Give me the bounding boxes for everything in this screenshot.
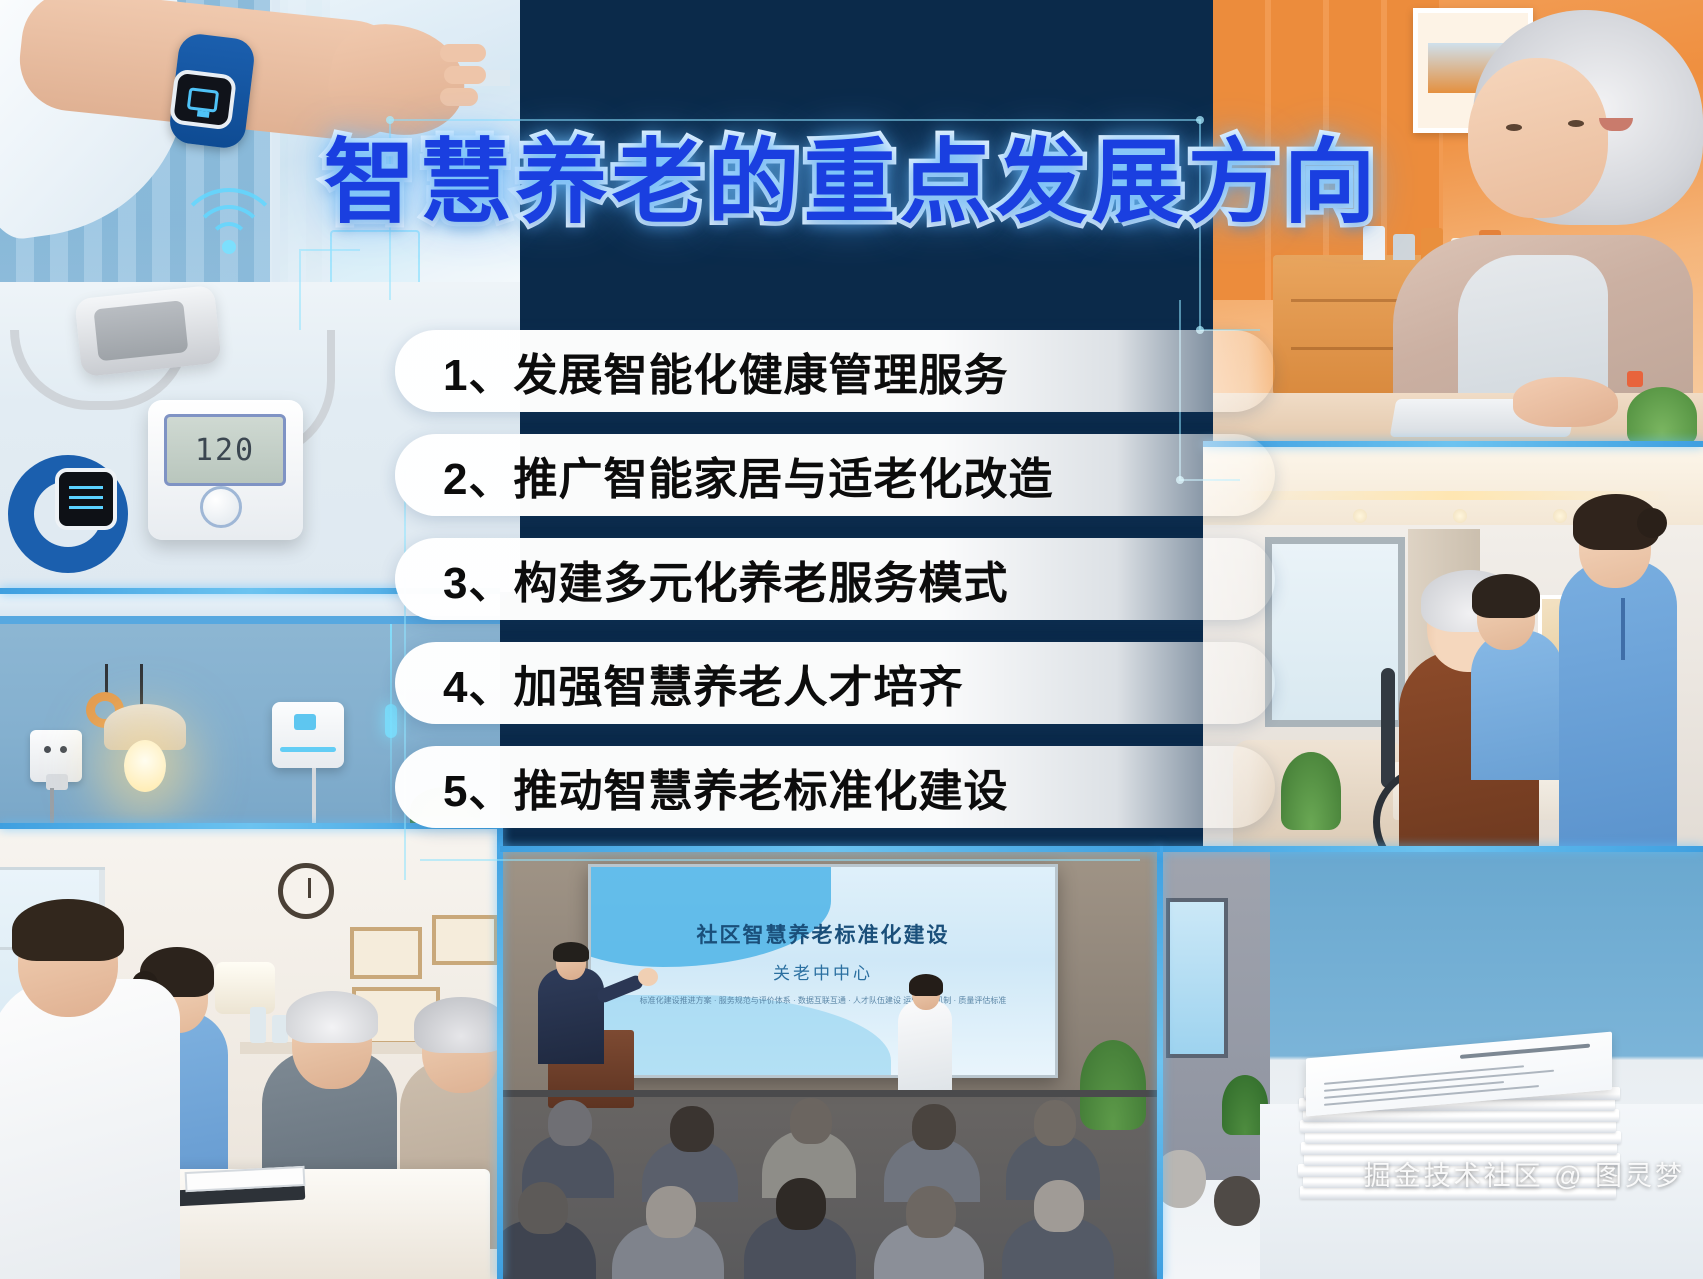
potted-plant (1080, 1040, 1146, 1130)
panel-status-bar (280, 747, 336, 752)
key-directions-list: 1、发展智能化健康管理服务 2、推广智能家居与适老化改造 3、构建多元化养老服务… (395, 330, 1275, 828)
monitor-reading: 120 (195, 433, 255, 468)
elderly-man-hair (286, 991, 378, 1043)
potted-plant (1627, 387, 1697, 445)
panel-cord (312, 768, 316, 824)
nurse-female-body (1559, 560, 1677, 850)
power-cord (50, 788, 54, 827)
background-display (1166, 898, 1228, 1058)
elderly-woman-hair (414, 997, 500, 1053)
panel-seam (1157, 846, 1163, 1279)
table-lamp (215, 962, 275, 1014)
photo-panel-consultation (0, 827, 500, 1279)
list-item-label: 4、加强智慧养老人才培齐 (443, 651, 963, 715)
smart-watch-screen (55, 468, 117, 530)
finger (440, 88, 478, 106)
list-item: 1、发展智能化健康管理服务 (395, 330, 1275, 412)
window-mullion (0, 867, 105, 870)
speaker-body (538, 968, 604, 1064)
blood-pressure-cuff (74, 285, 221, 377)
panel-seam (500, 846, 1160, 852)
monitor-display: 120 (164, 414, 286, 486)
photo-panel-nursing-care (1203, 445, 1703, 850)
audience-head (1160, 1150, 1206, 1208)
list-item: 4、加强智慧养老人才培齐 (395, 642, 1275, 724)
wheelchair-frame (1381, 668, 1395, 788)
nurse-male-hair (1472, 574, 1540, 618)
wall-clock (278, 863, 334, 919)
presenter-hair (909, 974, 943, 996)
finger (440, 44, 486, 62)
doctor-body (0, 979, 180, 1279)
list-item-label: 5、推动智慧养老标准化建设 (443, 755, 1008, 819)
projection-screen: 社区智慧养老标准化建设 关老中中心 标准化建设推进方案 · 服务规范与评价体系 … (588, 864, 1058, 1078)
list-item-label: 1、发展智能化健康管理服务 (443, 339, 1008, 403)
hair-bun (1637, 508, 1667, 538)
potted-plant (1281, 752, 1341, 830)
page-title: 智慧养老的重点发展方向 (0, 108, 1703, 241)
watermark: 掘金技术社区 @ 图灵梦 (1364, 1154, 1685, 1193)
photo-panel-document-stack (1160, 850, 1703, 1279)
panel-seam (1203, 441, 1703, 447)
wall-poster (350, 927, 422, 979)
screen-body-text: 标准化建设推进方案 · 服务规范与评价体系 · 数据互联互通 · 人才队伍建设 … (591, 993, 1055, 1008)
panel-display-icon (294, 714, 316, 730)
list-item: 3、构建多元化养老服务模式 (395, 538, 1275, 620)
nurse-lanyard (1621, 598, 1625, 660)
lapel-badge (1627, 371, 1643, 387)
speaker-hair (553, 942, 589, 962)
hand-on-keyboard (1513, 377, 1618, 427)
stage-edge (500, 1090, 1160, 1097)
list-item-label: 2、推广智能家居与适老化改造 (443, 443, 1053, 507)
list-item: 5、推动智慧养老标准化建设 (395, 746, 1275, 828)
screen-title: 社区智慧养老标准化建设 (591, 919, 1055, 949)
wifi-dot-icon (222, 240, 236, 254)
photo-panel-seminar: 社区智慧养老标准化建设 关老中中心 标准化建设推进方案 · 服务规范与评价体系 … (500, 850, 1160, 1279)
screen-subtitle: 关老中中心 (591, 959, 1055, 984)
list-item-label: 3、构建多元化养老服务模式 (443, 547, 1008, 611)
finger (444, 66, 486, 84)
list-item: 2、推广智能家居与适老化改造 (395, 434, 1275, 516)
wall-poster (432, 915, 498, 965)
infographic-poster: 120 (0, 0, 1703, 1279)
doctor-hair (12, 899, 124, 961)
light-bulb (124, 740, 166, 792)
blood-pressure-monitor: 120 (148, 400, 303, 540)
smart-home-control-panel (272, 702, 344, 768)
document-title-line (1460, 1044, 1590, 1059)
screen-decoration (588, 864, 831, 967)
presenter-body (898, 1000, 952, 1090)
audience-head (1214, 1176, 1260, 1226)
panel-seam (1163, 846, 1703, 852)
cuff-inner (93, 300, 188, 361)
speaker-hand (638, 968, 658, 986)
nurse-male-body (1471, 630, 1563, 780)
monitor-start-button (200, 486, 242, 528)
panel-seam (497, 823, 503, 1279)
